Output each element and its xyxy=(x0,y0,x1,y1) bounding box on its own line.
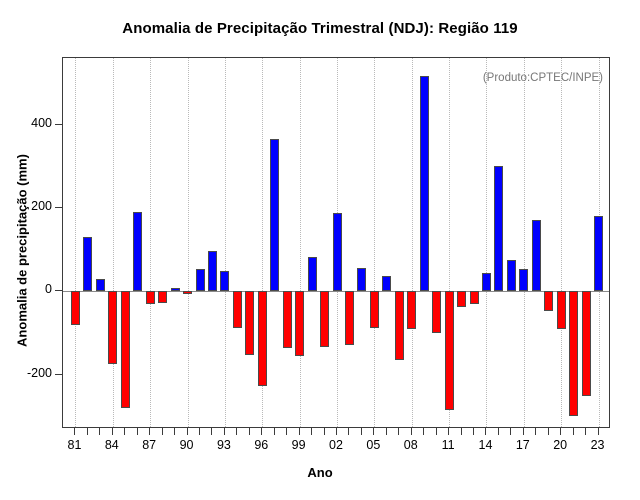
bar-88 xyxy=(158,291,167,303)
bar-04 xyxy=(357,268,366,291)
x-tick xyxy=(211,428,212,435)
y-tick xyxy=(55,207,62,208)
y-tick-label: -200 xyxy=(0,366,52,380)
bar-20 xyxy=(557,291,566,329)
x-tick-label: 96 xyxy=(241,438,281,452)
x-tick xyxy=(137,428,138,435)
x-tick-label: 93 xyxy=(204,438,244,452)
x-tick-label: 17 xyxy=(503,438,543,452)
bar-10 xyxy=(432,291,441,333)
bar-00 xyxy=(308,257,317,292)
x-tick xyxy=(585,428,586,435)
x-tick xyxy=(274,428,275,435)
bar-84 xyxy=(108,291,117,364)
bar-83 xyxy=(96,279,105,292)
bar-05 xyxy=(370,291,379,328)
bar-16 xyxy=(507,260,516,291)
x-tick xyxy=(548,428,549,435)
x-tick xyxy=(573,428,574,435)
bar-92 xyxy=(208,251,217,291)
x-tick xyxy=(99,428,100,435)
x-tick xyxy=(199,428,200,435)
x-tick xyxy=(361,428,362,435)
y-tick xyxy=(55,374,62,375)
x-tick xyxy=(299,428,300,435)
x-tick xyxy=(286,428,287,435)
bar-09 xyxy=(420,76,429,291)
bar-21 xyxy=(569,291,578,415)
gridline xyxy=(113,58,114,427)
y-tick-label: 0 xyxy=(0,282,52,296)
gridline xyxy=(412,58,413,427)
x-tick xyxy=(598,428,599,435)
bar-14 xyxy=(482,273,491,292)
x-tick-label: 05 xyxy=(353,438,393,452)
bar-91 xyxy=(196,269,205,292)
bar-12 xyxy=(457,291,466,307)
source-annotation: (Produto:CPTEC/INPE) xyxy=(483,72,603,84)
x-tick xyxy=(74,428,75,435)
x-tick xyxy=(324,428,325,435)
gridline xyxy=(524,58,525,427)
y-tick xyxy=(55,290,62,291)
gridline xyxy=(300,58,301,427)
x-tick xyxy=(224,428,225,435)
x-tick-label: 23 xyxy=(578,438,618,452)
x-tick-label: 81 xyxy=(54,438,94,452)
x-tick-label: 02 xyxy=(316,438,356,452)
bar-06 xyxy=(382,276,391,292)
plot-area: (Produto:CPTEC/INPE) xyxy=(62,57,610,428)
x-tick xyxy=(336,428,337,435)
x-tick xyxy=(236,428,237,435)
x-tick xyxy=(124,428,125,435)
bar-17 xyxy=(519,269,528,292)
bar-95 xyxy=(245,291,254,355)
x-tick xyxy=(249,428,250,435)
bar-96 xyxy=(258,291,267,386)
x-tick xyxy=(498,428,499,435)
bar-97 xyxy=(270,139,279,291)
x-tick xyxy=(473,428,474,435)
x-tick-label: 14 xyxy=(465,438,505,452)
bar-19 xyxy=(544,291,553,311)
bar-87 xyxy=(146,291,155,304)
x-tick xyxy=(436,428,437,435)
bar-18 xyxy=(532,220,541,292)
x-tick xyxy=(448,428,449,435)
x-tick xyxy=(174,428,175,435)
y-tick-label: 400 xyxy=(0,116,52,130)
bar-01 xyxy=(320,291,329,346)
x-tick xyxy=(461,428,462,435)
x-tick xyxy=(510,428,511,435)
y-tick-label: 200 xyxy=(0,199,52,213)
x-tick xyxy=(162,428,163,435)
x-tick xyxy=(112,428,113,435)
bar-93 xyxy=(220,271,229,292)
x-tick xyxy=(523,428,524,435)
x-tick xyxy=(386,428,387,435)
bar-08 xyxy=(407,291,416,329)
bar-13 xyxy=(470,291,479,304)
bar-02 xyxy=(333,213,342,291)
bar-07 xyxy=(395,291,404,360)
bar-23 xyxy=(594,216,603,292)
x-tick xyxy=(87,428,88,435)
x-axis-label: Ano xyxy=(0,465,640,480)
x-tick xyxy=(187,428,188,435)
bar-94 xyxy=(233,291,242,328)
x-tick xyxy=(149,428,150,435)
gridline xyxy=(374,58,375,427)
gridline xyxy=(561,58,562,427)
bar-82 xyxy=(83,237,92,291)
x-tick xyxy=(261,428,262,435)
gridline xyxy=(150,58,151,427)
bar-98 xyxy=(283,291,292,347)
x-tick xyxy=(560,428,561,435)
bar-99 xyxy=(295,291,304,356)
bar-15 xyxy=(494,166,503,291)
bar-03 xyxy=(345,291,354,344)
bar-85 xyxy=(121,291,130,408)
x-tick-label: 90 xyxy=(167,438,207,452)
x-tick-label: 99 xyxy=(279,438,319,452)
x-tick-label: 84 xyxy=(92,438,132,452)
x-tick xyxy=(485,428,486,435)
x-tick xyxy=(423,428,424,435)
gridline xyxy=(188,58,189,427)
bar-22 xyxy=(582,291,591,395)
x-tick-label: 20 xyxy=(540,438,580,452)
bar-81 xyxy=(71,291,80,324)
bar-90 xyxy=(183,291,192,293)
chart-root: Anomalia de Precipitação Trimestral (NDJ… xyxy=(0,0,640,500)
x-tick-label: 11 xyxy=(428,438,468,452)
x-tick xyxy=(348,428,349,435)
gridline xyxy=(486,58,487,427)
x-tick-label: 87 xyxy=(129,438,169,452)
gridline xyxy=(75,58,76,427)
x-tick xyxy=(311,428,312,435)
x-tick xyxy=(411,428,412,435)
x-tick xyxy=(398,428,399,435)
x-tick xyxy=(373,428,374,435)
gridline xyxy=(225,58,226,427)
bar-89 xyxy=(171,288,180,291)
bar-86 xyxy=(133,212,142,291)
bar-11 xyxy=(445,291,454,410)
x-tick-label: 08 xyxy=(391,438,431,452)
chart-title: Anomalia de Precipitação Trimestral (NDJ… xyxy=(0,20,640,37)
y-tick xyxy=(55,124,62,125)
x-tick xyxy=(535,428,536,435)
